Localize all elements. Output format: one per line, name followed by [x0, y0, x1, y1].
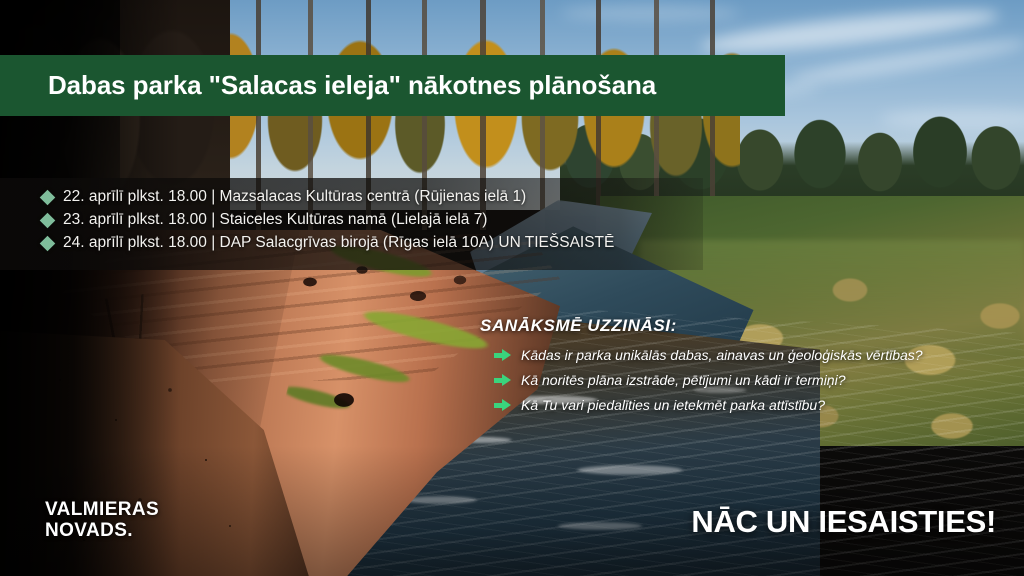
diamond-bullet-icon — [40, 189, 56, 205]
meeting-text: 22. aprīlī plkst. 18.00 | Mazsalacas Kul… — [63, 188, 526, 206]
call-to-action: NĀC UN IESAISTIES! — [691, 504, 996, 540]
agenda-item-text: Kādas ir parka unikālās dabas, ainavas u… — [521, 347, 923, 363]
logo-line-2: NOVADS. — [45, 521, 159, 542]
list-item: 24. aprīlī plkst. 18.00 | DAP Salacgrīva… — [42, 234, 722, 252]
page-title: Dabas parka "Salacas ieleja" nākotnes pl… — [48, 70, 656, 101]
arrow-right-icon — [494, 399, 511, 412]
logo-line-1: VALMIERAS — [45, 500, 159, 521]
agenda-item-text: Kā Tu vari piedalīties un ietekmēt parka… — [521, 397, 825, 413]
poster-canvas: Dabas parka "Salacas ieleja" nākotnes pl… — [0, 0, 1024, 576]
arrow-right-icon — [494, 349, 511, 362]
agenda-heading: SANĀKSMĒ UZZINĀSI: — [480, 316, 1000, 336]
list-item: 23. aprīlī plkst. 18.00 | Staiceles Kult… — [42, 211, 722, 229]
arrow-right-icon — [494, 374, 511, 387]
title-banner: Dabas parka "Salacas ieleja" nākotnes pl… — [0, 55, 785, 116]
valmieras-novads-logo: VALMIERAS NOVADS. — [45, 500, 159, 541]
list-item: Kā Tu vari piedalīties un ietekmēt parka… — [494, 397, 1000, 413]
list-item: 22. aprīlī plkst. 18.00 | Mazsalacas Kul… — [42, 188, 722, 206]
meeting-text: 24. aprīlī plkst. 18.00 | DAP Salacgrīva… — [63, 234, 614, 252]
diamond-bullet-icon — [40, 212, 56, 228]
meetings-list: 22. aprīlī plkst. 18.00 | Mazsalacas Kul… — [42, 188, 722, 252]
agenda-item-text: Kā noritēs plāna izstrāde, pētījumi un k… — [521, 372, 846, 388]
list-item: Kā noritēs plāna izstrāde, pētījumi un k… — [494, 372, 1000, 388]
agenda-section: SANĀKSMĒ UZZINĀSI: Kādas ir parka unikāl… — [480, 316, 1000, 422]
diamond-bullet-icon — [40, 235, 56, 251]
meeting-text: 23. aprīlī plkst. 18.00 | Staiceles Kult… — [63, 211, 487, 229]
list-item: Kādas ir parka unikālās dabas, ainavas u… — [494, 347, 1000, 363]
